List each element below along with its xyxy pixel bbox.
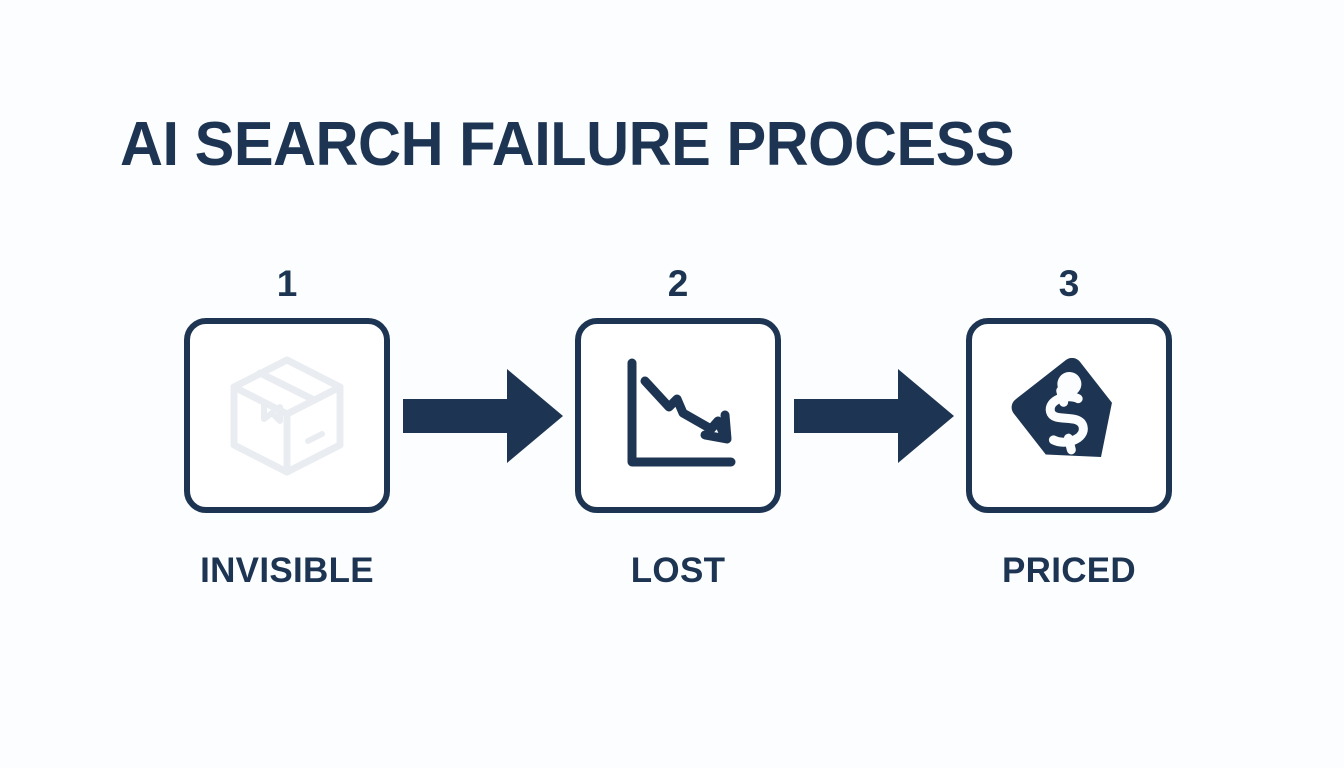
ai-search-failure-process-infographic: AI SEARCH FAILURE PROCESS 1 <box>0 0 1344 768</box>
price-tag-dollar-icon <box>1011 358 1127 474</box>
step-number-1: 1 <box>277 262 298 306</box>
arrow-right-icon <box>794 369 954 463</box>
process-step-priced[interactable]: 3 <box>966 262 1172 591</box>
step-number-3: 3 <box>1059 262 1080 306</box>
package-box-icon <box>228 355 346 477</box>
process-step-lost[interactable]: 2 LOST <box>575 262 781 591</box>
page-title: AI SEARCH FAILURE PROCESS <box>120 110 1014 180</box>
process-steps-row: 1 INVISI <box>184 262 1172 592</box>
step-number-2: 2 <box>668 262 689 306</box>
step-label-invisible: INVISIBLE <box>200 551 374 591</box>
declining-chart-icon <box>619 357 737 475</box>
connector-arrow-2 <box>791 318 956 513</box>
step-card-priced[interactable] <box>966 318 1172 513</box>
step-card-invisible[interactable] <box>184 318 390 513</box>
step-card-lost[interactable] <box>575 318 781 513</box>
arrow-right-icon <box>403 369 563 463</box>
connector-arrow-1 <box>400 318 565 513</box>
step-label-priced: PRICED <box>1002 551 1136 591</box>
process-step-invisible[interactable]: 1 INVISI <box>184 262 390 591</box>
step-label-lost: LOST <box>631 551 726 591</box>
